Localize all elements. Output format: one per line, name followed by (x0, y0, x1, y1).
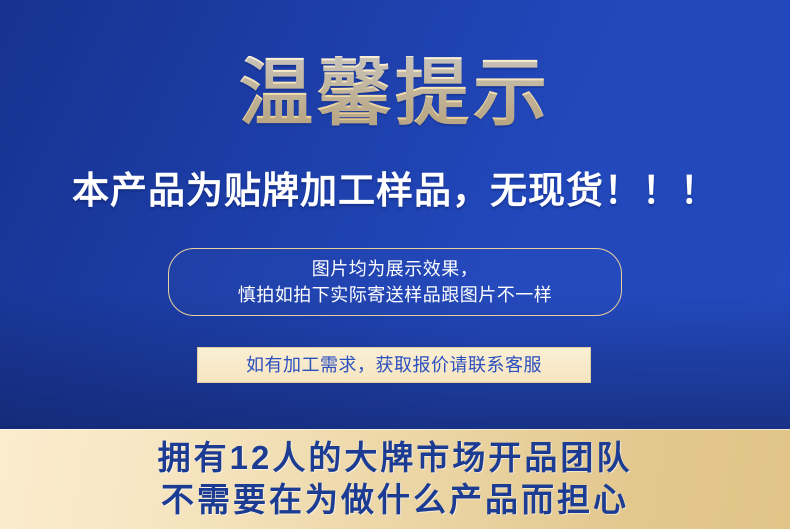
promo-poster: 温馨提示 本产品为贴牌加工样品，无现货！！！ 图片均为展示效果， 慎拍如拍下实际… (0, 0, 790, 529)
subheadline-text: 本产品为贴牌加工样品，无现货！！！ (72, 172, 718, 211)
bottom-highlight-banner: 拥有12人的大牌市场开品团队 不需要在为做什么产品而担心 (0, 429, 790, 529)
page-title: 温馨提示 (239, 56, 551, 130)
headline-container: 温馨提示 (0, 56, 790, 130)
disclaimer-note-box: 图片均为展示效果， 慎拍如拍下实际寄送样品跟图片不一样 (168, 248, 622, 316)
contact-service-cta-label: 如有加工需求，获取报价请联系客服 (246, 356, 542, 374)
contact-service-cta[interactable]: 如有加工需求，获取报价请联系客服 (197, 347, 591, 383)
disclaimer-line-2: 慎拍如拍下实际寄送样品跟图片不一样 (238, 282, 553, 308)
subheadline-container: 本产品为贴牌加工样品，无现货！！！ (0, 172, 790, 211)
banner-line-1: 拥有12人的大牌市场开品团队 (158, 437, 633, 479)
disclaimer-line-1: 图片均为展示效果， (312, 256, 479, 282)
banner-line-2: 不需要在为做什么产品而担心 (161, 479, 629, 521)
